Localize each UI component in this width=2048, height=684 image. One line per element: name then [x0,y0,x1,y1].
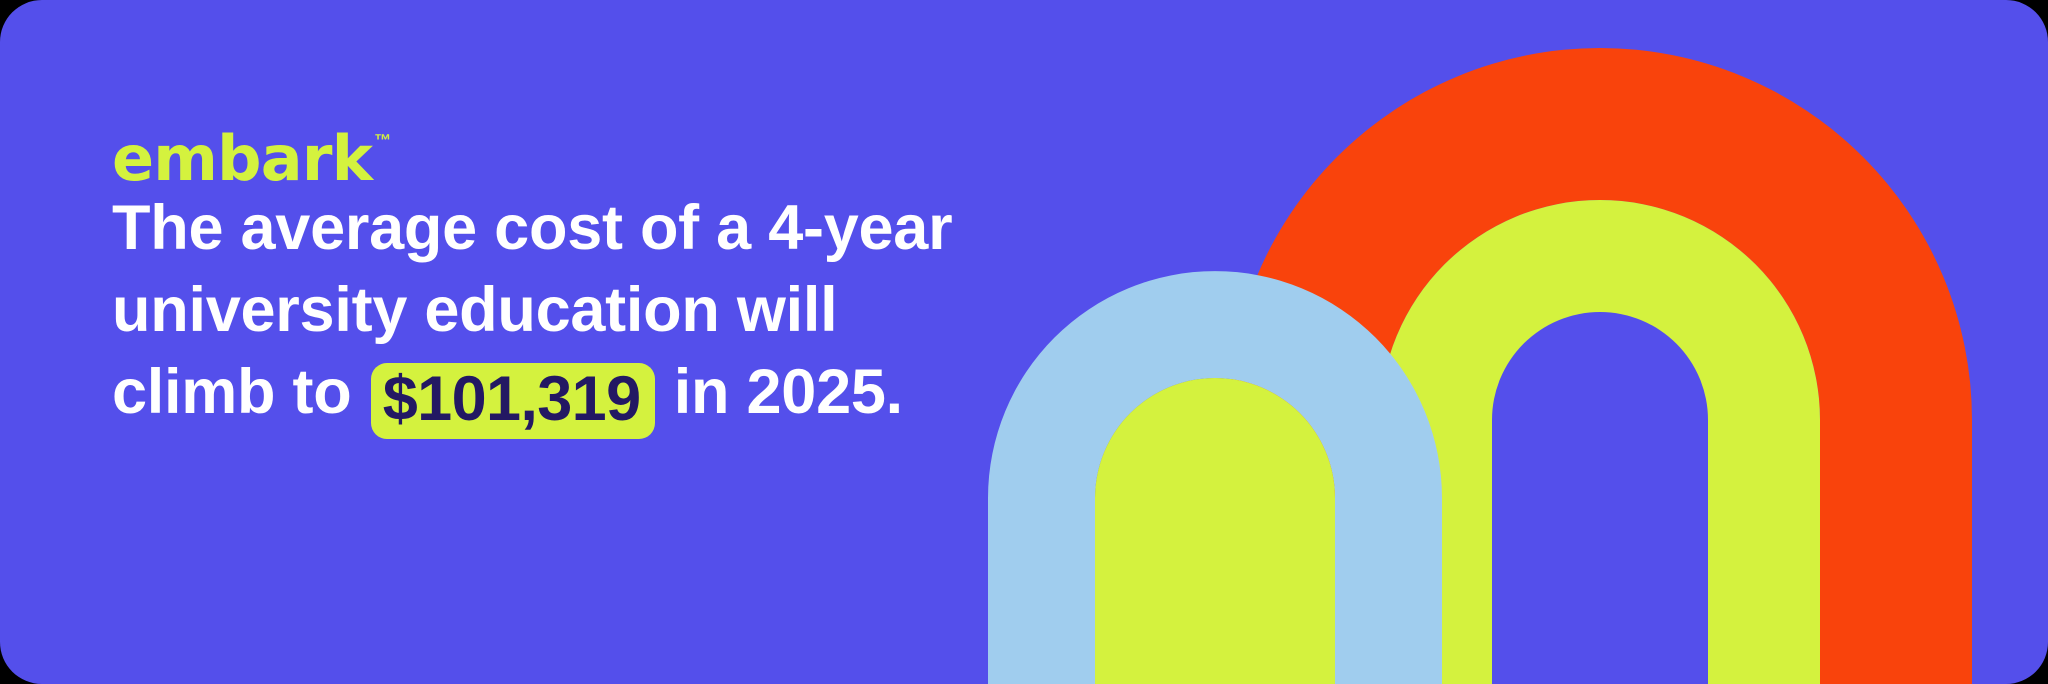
headline-line-3-suffix: in 2025. [674,357,903,427]
highlighted-amount: $101,319 [371,363,655,439]
small-arch-inner-yellow [1095,378,1335,684]
headline-line-3-prefix: climb to [112,357,352,427]
page-title: The average cost of a 4-year university … [112,188,952,434]
large-arch-outer-orange [1228,48,1972,684]
headline-line-1: The average cost of a 4-year [112,188,952,270]
headline-line-2: university education will [112,270,952,352]
banner-content: embark ™ The average cost of a 4-year un… [112,0,1012,684]
promotional-banner: embark ™ The average cost of a 4-year un… [0,0,2048,684]
nested-arch-graphic [988,0,2048,684]
small-arch-outer-blue [988,271,1442,684]
logo-wordmark: embark [112,128,372,190]
large-arch-inner-yellow [1380,200,1820,684]
embark-logo: embark ™ [112,128,391,190]
headline-line-3: climb to $101,319 in 2025. [112,352,952,434]
trademark-icon: ™ [374,132,391,149]
